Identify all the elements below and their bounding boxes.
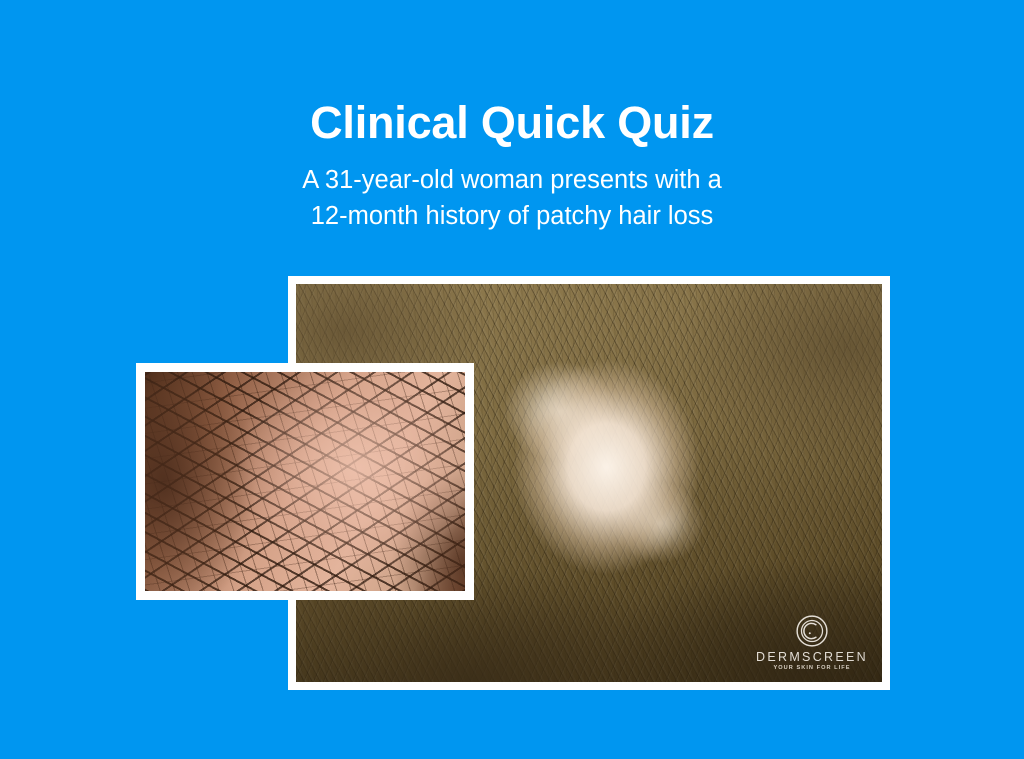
quiz-slide: Clinical Quick Quiz A 31-year-old woman … <box>0 0 1024 759</box>
dermscreen-circle-logo-icon <box>795 614 829 648</box>
page-title: Clinical Quick Quiz <box>0 98 1024 148</box>
inset-dermoscopy-photo <box>145 372 465 591</box>
quiz-question-line-2: 12-month history of patchy hair loss <box>0 198 1024 234</box>
inset-dermoscopy-photo-frame <box>136 363 474 600</box>
quiz-question-text: A 31-year-old woman presents with a 12-m… <box>0 162 1024 234</box>
watermark-brand-name: DERMSCREEN <box>756 651 868 664</box>
watermark-tagline: YOUR SKIN FOR LIFE <box>773 666 850 672</box>
watermark: DERMSCREEN YOUR SKIN FOR LIFE <box>756 614 868 672</box>
quiz-question-line-1: A 31-year-old woman presents with a <box>0 162 1024 198</box>
